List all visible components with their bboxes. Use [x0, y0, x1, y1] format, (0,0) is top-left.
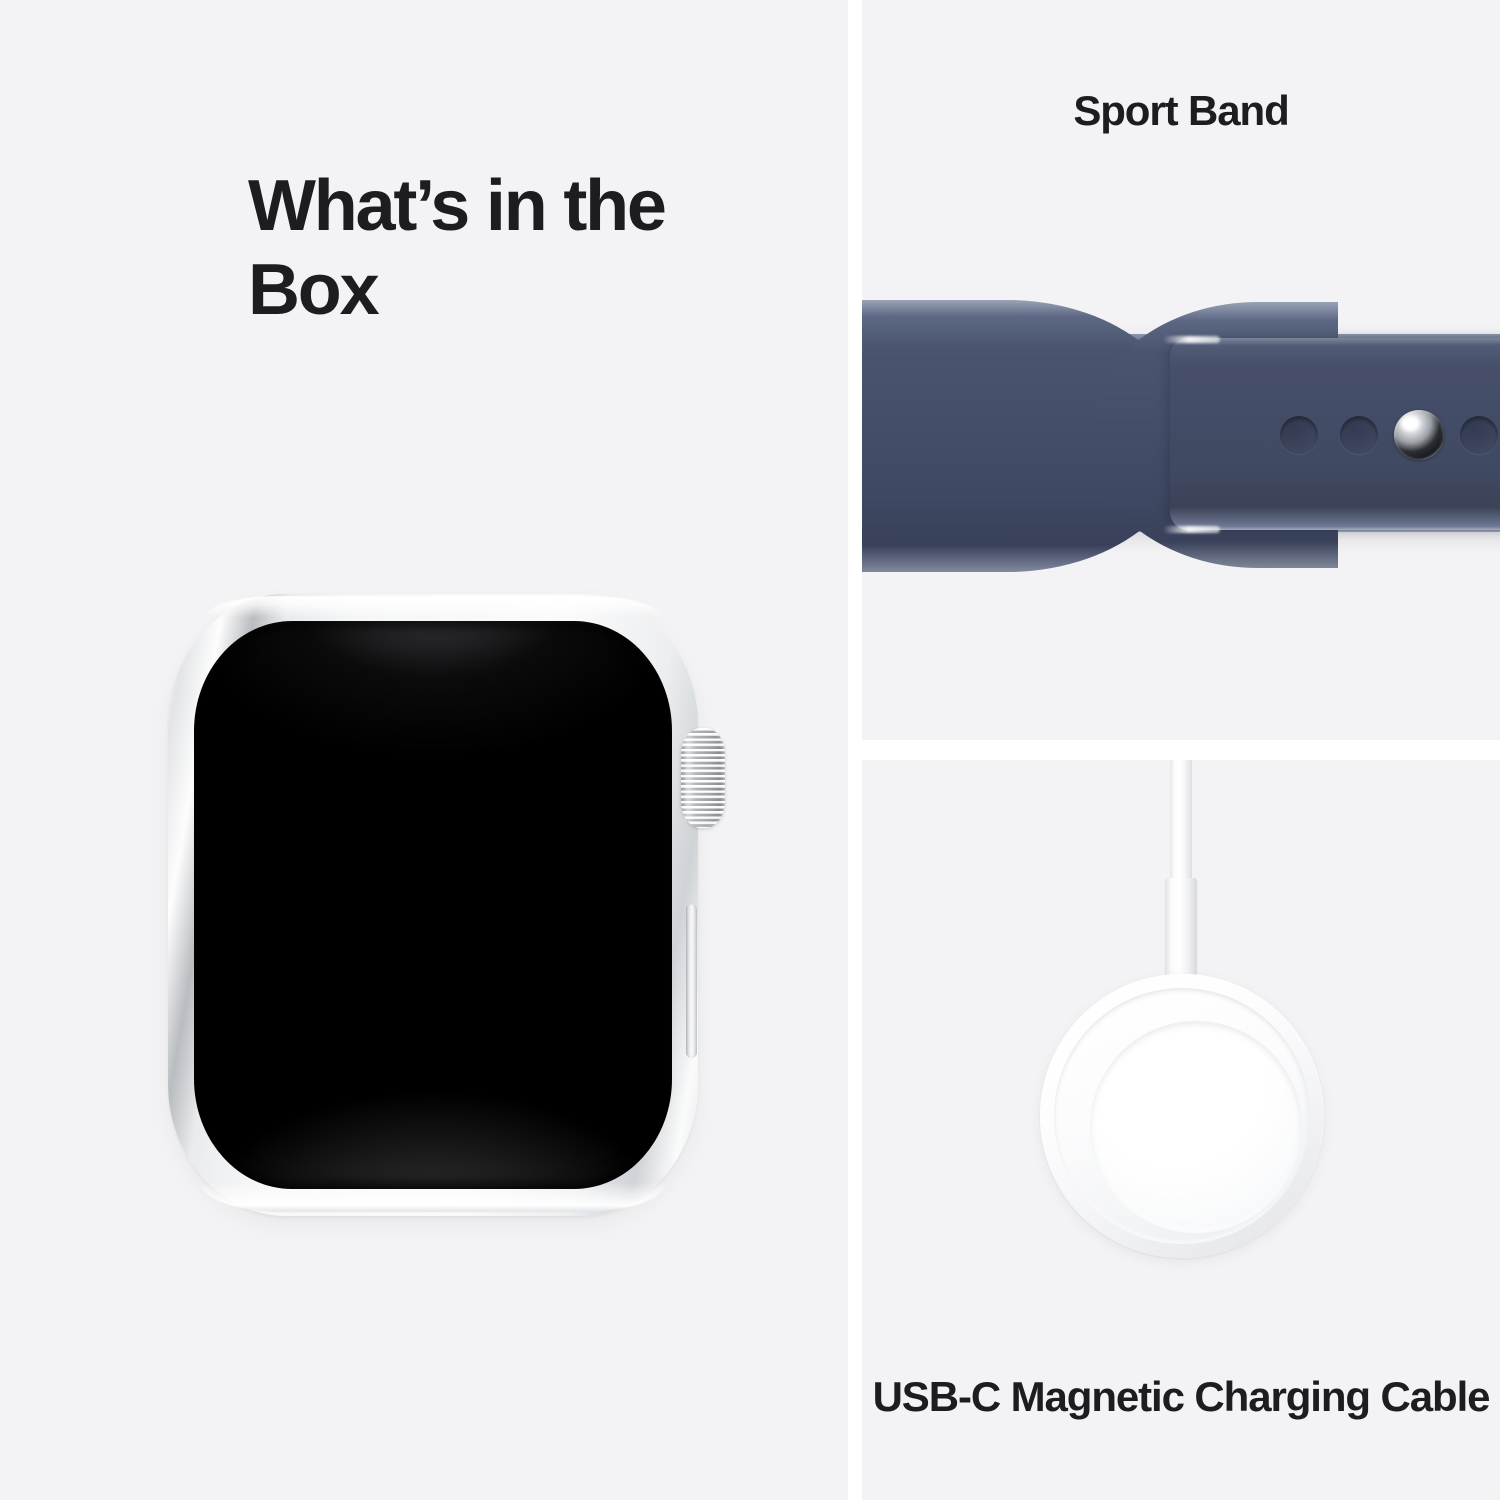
- digital-crown[interactable]: [681, 728, 725, 828]
- band-keeper-slit-bottom: [1164, 526, 1220, 533]
- panel-watch: What’s in the Box: [0, 0, 848, 1500]
- panel-sport-band: Sport Band: [862, 0, 1500, 740]
- cable-strain-relief-collar: [1165, 878, 1197, 982]
- band-pin-grommet: [1394, 410, 1444, 460]
- panel-charging-cable: USB-C Magnetic Charging Cable: [862, 760, 1500, 1500]
- puck-outer-ring: [1054, 988, 1310, 1244]
- watch-case-top-rim: [205, 596, 661, 618]
- band-hole: [1460, 416, 1498, 454]
- band-keeper-loop: [1170, 338, 1500, 530]
- apple-watch-illustration: [168, 594, 698, 1216]
- band-hole: [1340, 416, 1378, 454]
- puck-charging-surface: [1090, 1021, 1302, 1233]
- charging-cable-caption: USB-C Magnetic Charging Cable: [862, 1372, 1500, 1422]
- side-button[interactable]: [686, 904, 697, 1058]
- watch-display: [194, 621, 672, 1189]
- band-keeper-slit-top: [1164, 336, 1220, 343]
- sport-band-illustration: [862, 0, 1500, 740]
- whats-in-the-box-graphic: What’s in the Box Sport Band: [0, 0, 1500, 1500]
- magnetic-charging-puck: [1040, 974, 1324, 1258]
- band-hole: [1280, 416, 1318, 454]
- page-title: What’s in the Box: [248, 165, 808, 332]
- cable-cord: [1170, 760, 1192, 882]
